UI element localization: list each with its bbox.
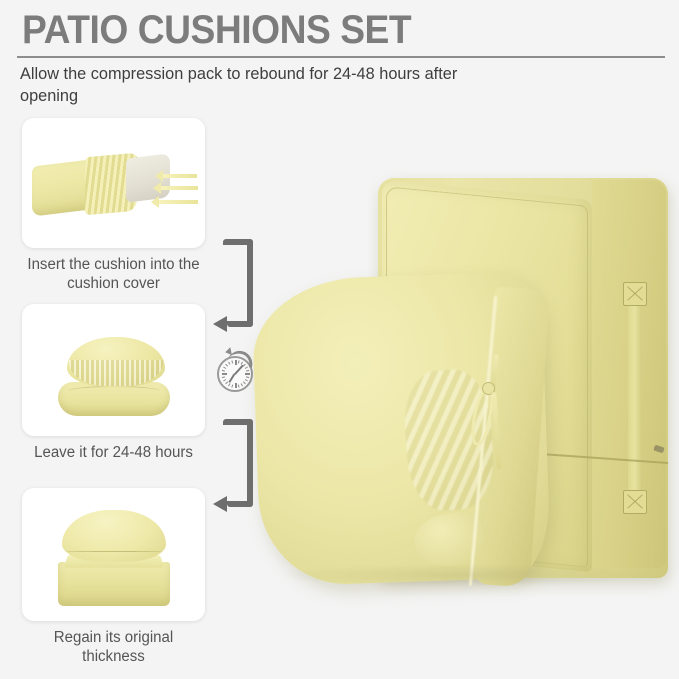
insert-direction-arrow-3-icon <box>158 200 198 204</box>
stopwatch-tick <box>231 384 233 387</box>
page-subtitle: Allow the compression pack to rebound fo… <box>20 63 519 107</box>
stopwatch-hand <box>229 374 236 383</box>
cushion-insert-shape <box>126 153 170 202</box>
stopwatch-tick <box>221 370 224 372</box>
handle-anchor-tab-bottom <box>623 490 647 514</box>
stopwatch-tick <box>223 367 226 369</box>
pillow-fabric-tie <box>468 354 508 472</box>
stopwatch-tick <box>222 373 227 375</box>
page-title: PATIO CUSHIONS SET <box>22 8 411 53</box>
carry-handle-strap <box>628 288 641 500</box>
flow-arrow-head <box>213 496 227 512</box>
step-card-2: Leave it for 24-48 hours <box>22 304 205 462</box>
step-card-1: Insert the cushion into the cushion cove… <box>22 118 205 293</box>
insert-direction-arrow-1-icon <box>162 174 197 178</box>
restored-pillow-shape <box>62 510 166 562</box>
step-3-image-card <box>22 488 205 621</box>
thick-seat-cushion-shape <box>58 562 170 606</box>
stopwatch-tick <box>221 376 224 378</box>
product-infographic: PATIO CUSHIONS SET Allow the compression… <box>0 0 679 679</box>
step-2-caption: Leave it for 24-48 hours <box>25 443 203 462</box>
step-3-caption: Regain its original thickness <box>25 628 203 666</box>
illustration-thick-cushion <box>22 488 205 621</box>
product-photo <box>236 160 679 620</box>
stopwatch-tick <box>228 383 230 386</box>
product-drop-shadow <box>276 564 656 586</box>
insert-direction-arrow-2-icon <box>160 186 198 190</box>
flow-arrow-head <box>213 316 227 332</box>
step-1-caption: Insert the cushion into the cushion cove… <box>25 255 203 293</box>
stopwatch-tick <box>223 379 226 381</box>
step-2-image-card <box>22 304 205 436</box>
step-1-image-card <box>22 118 205 248</box>
title-divider <box>17 56 665 58</box>
stopwatch-tick <box>225 364 228 367</box>
illustration-flat-cushion <box>22 304 205 436</box>
handle-anchor-tab-top <box>623 282 647 306</box>
stopwatch-tick <box>225 381 228 384</box>
flat-seat-cushion-shape <box>58 382 170 416</box>
tie-tail-lower <box>491 392 501 470</box>
step-card-3: Regain its original thickness <box>22 488 205 666</box>
cushion-seam-line <box>66 551 162 552</box>
illustration-insert-cushion <box>22 118 205 248</box>
